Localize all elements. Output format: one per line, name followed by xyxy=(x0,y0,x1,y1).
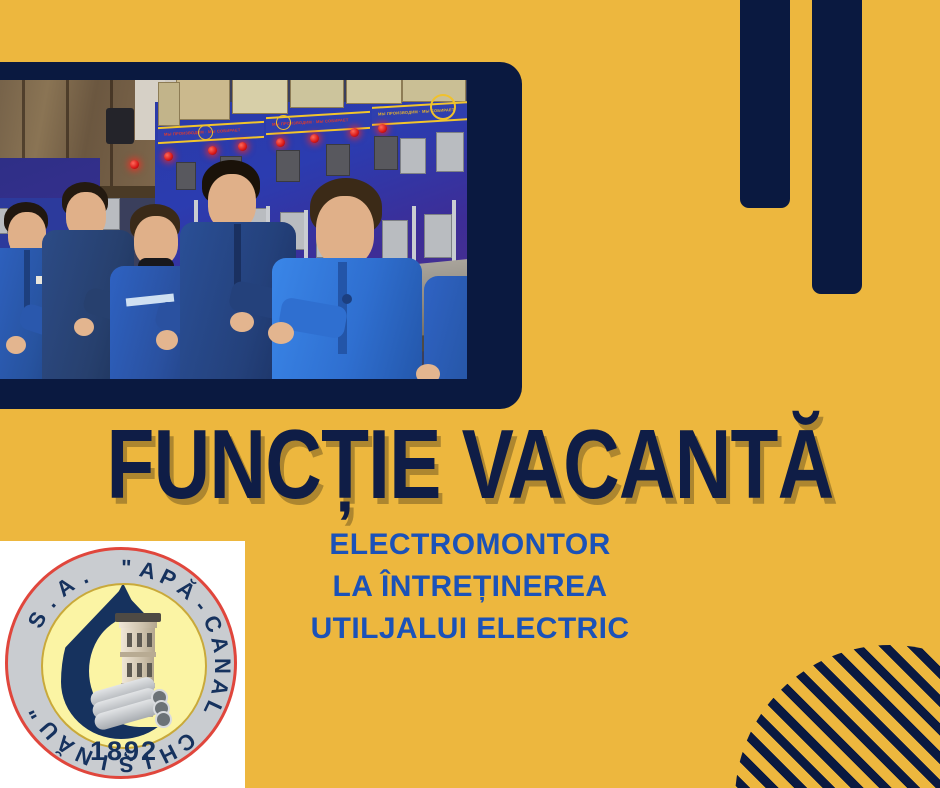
logo-ring-letter: A xyxy=(51,572,79,602)
wall-poster xyxy=(346,80,402,104)
logo-ring-letter: A xyxy=(205,634,234,655)
board-logo-badge xyxy=(198,125,213,140)
company-logo: S.A. "APĂ-CANAL CHIȘINĂU" 1892 xyxy=(0,541,245,788)
logo-ring-letter: " xyxy=(121,555,132,581)
board-device xyxy=(382,220,408,262)
logo-ring-letter: A xyxy=(137,556,159,585)
indicator-lamp xyxy=(378,124,387,133)
indicator-lamp xyxy=(238,142,247,151)
board-device xyxy=(326,144,350,176)
poster-canvas: МЫ ПРОИЗВОДИМ · МЫ СОБИРАЕТ МЫ ПРОИЗВОДИ… xyxy=(0,0,940,788)
wall-poster xyxy=(290,80,344,108)
board-device xyxy=(374,136,398,170)
indicator-lamp xyxy=(164,152,173,161)
decor-bar-right xyxy=(812,0,862,294)
logo-year: 1892 xyxy=(8,736,240,767)
board-device xyxy=(276,150,300,182)
logo-ring-letter: . xyxy=(38,591,62,613)
logo-ring-letter: . xyxy=(76,563,92,589)
photo-students-workbench: МЫ ПРОИЗВОДИМ · МЫ СОБИРАЕТ МЫ ПРОИЗВОДИ… xyxy=(0,80,467,379)
wall-poster xyxy=(158,82,180,126)
logo-seal-ring: S.A. "APĂ-CANAL CHIȘINĂU" 1892 xyxy=(5,547,237,779)
indicator-lamp xyxy=(310,134,319,143)
board-device xyxy=(176,162,196,190)
decor-bar-left xyxy=(740,0,790,208)
button xyxy=(342,294,352,304)
indicator-lamp xyxy=(208,146,217,155)
board-device xyxy=(400,138,426,174)
board-device xyxy=(424,214,452,258)
speaker-box xyxy=(106,108,134,144)
board-logo-badge xyxy=(430,94,456,120)
indicator-lamp xyxy=(350,128,359,137)
page-title: FUNCȚIE VACANTĂ xyxy=(94,414,846,514)
striped-circle-shape xyxy=(735,645,940,788)
logo-ring-letter: - xyxy=(189,595,214,617)
indicator-lamp xyxy=(130,160,139,169)
logo-ring-letter: S xyxy=(23,607,53,632)
indicator-lamp xyxy=(276,138,285,147)
logo-ring-letter: L xyxy=(198,696,227,719)
board-device xyxy=(436,132,464,172)
logo-ring-letter: C xyxy=(197,611,227,636)
wall-poster xyxy=(232,80,288,114)
logo-ring-letter: Ă xyxy=(172,575,201,605)
board-logo-badge xyxy=(276,115,291,130)
wall-poster xyxy=(176,80,230,120)
logo-ring-letter: A xyxy=(205,677,234,698)
logo-ring-letter: N xyxy=(209,658,235,674)
logo-ring-letter: " xyxy=(24,701,52,722)
